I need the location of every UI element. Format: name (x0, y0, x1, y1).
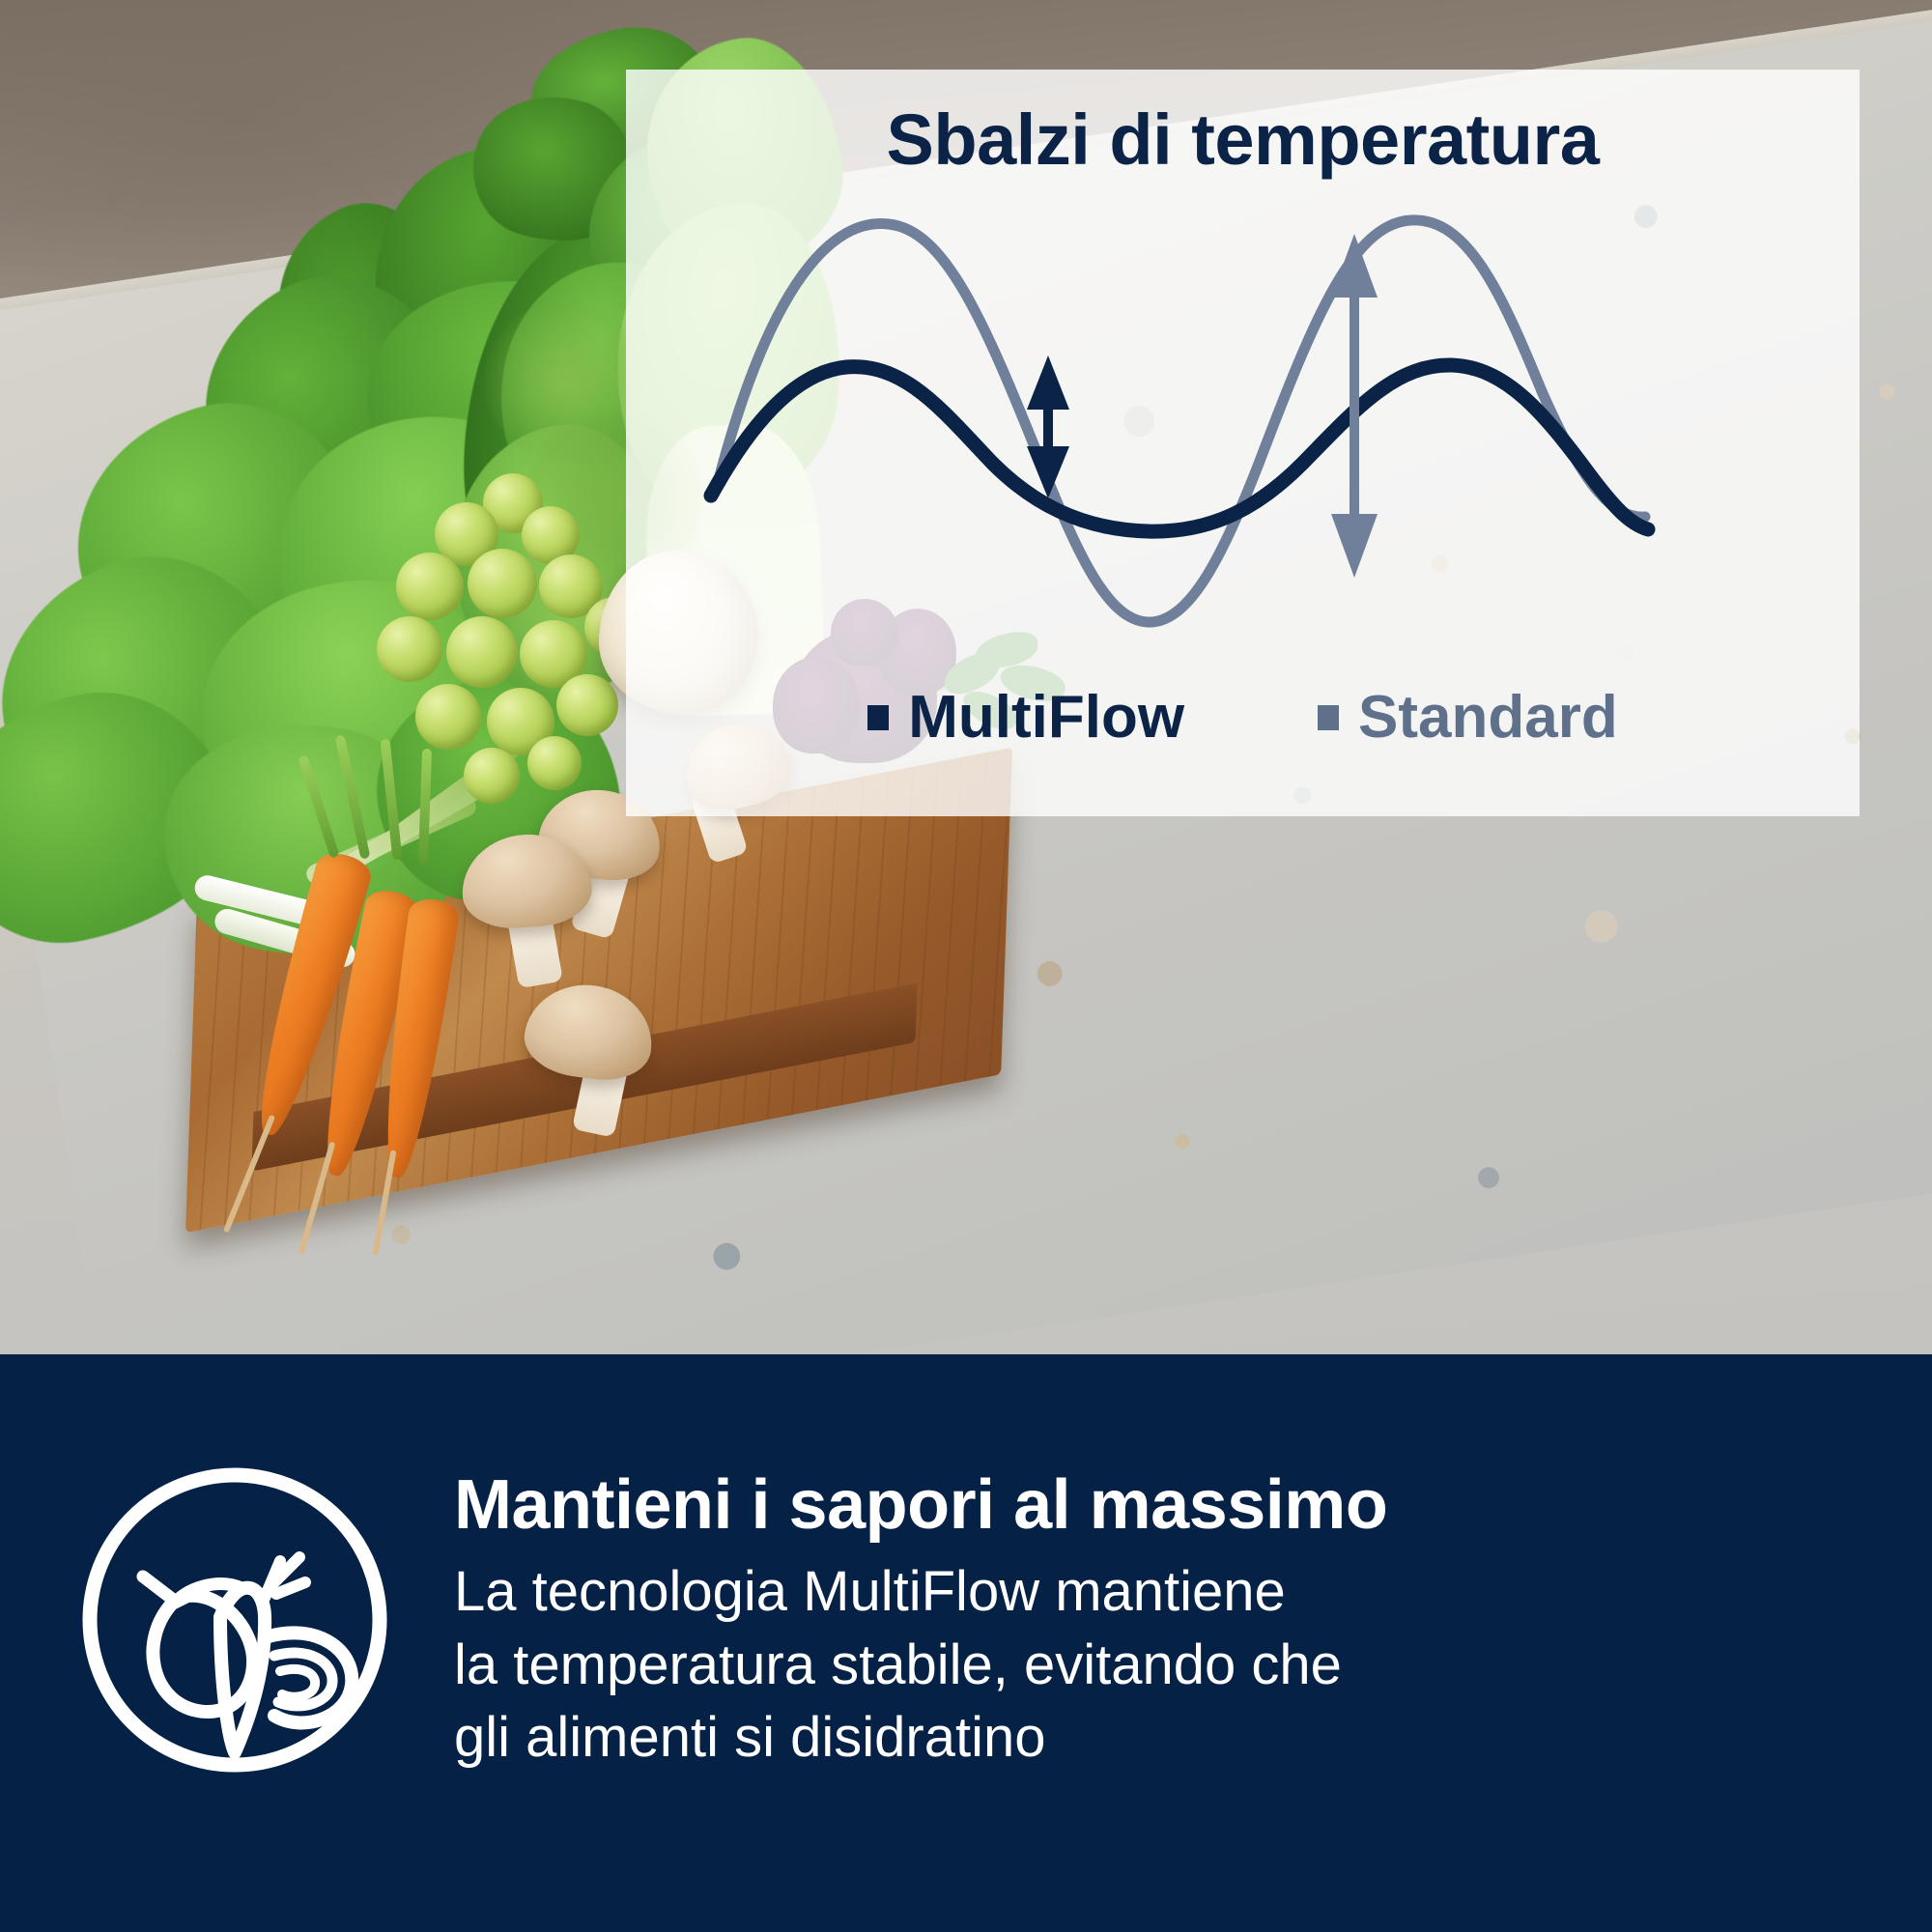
footer-text-block: Mantieni i sapori al massimo La tecnolog… (454, 1468, 1884, 1774)
chart-legend: MultiFlow Standard (626, 688, 1860, 748)
standard-wave-line (718, 220, 1645, 622)
legend-item-standard: Standard (1318, 688, 1618, 748)
legend-label-multiflow: MultiFlow (908, 688, 1184, 748)
legend-item-multiflow: MultiFlow (867, 688, 1184, 748)
temperature-wave-chart (626, 174, 1860, 657)
product-photo: Sbalzi di temperatura Mu (0, 0, 1932, 1354)
promo-graphic: Sbalzi di temperatura Mu (0, 0, 1932, 1932)
panel-title: Sbalzi di temperatura (626, 104, 1860, 176)
footer-body-line-3: gli alimenti si disidratino (454, 1701, 1884, 1774)
vegetables-circle-icon (75, 1461, 394, 1779)
multiflow-amplitude-arrow (1027, 355, 1069, 498)
footer-body-line-2: la temperatura stabile, evitando che (454, 1629, 1884, 1701)
square-bullet-icon (1318, 705, 1339, 730)
legend-label-standard: Standard (1358, 688, 1618, 748)
footer-body-line-1: La tecnologia MultiFlow mantiene (454, 1555, 1884, 1628)
square-bullet-icon (867, 705, 889, 730)
footer-heading: Mantieni i sapori al massimo (454, 1468, 1884, 1542)
multiflow-wave-line (711, 365, 1648, 531)
